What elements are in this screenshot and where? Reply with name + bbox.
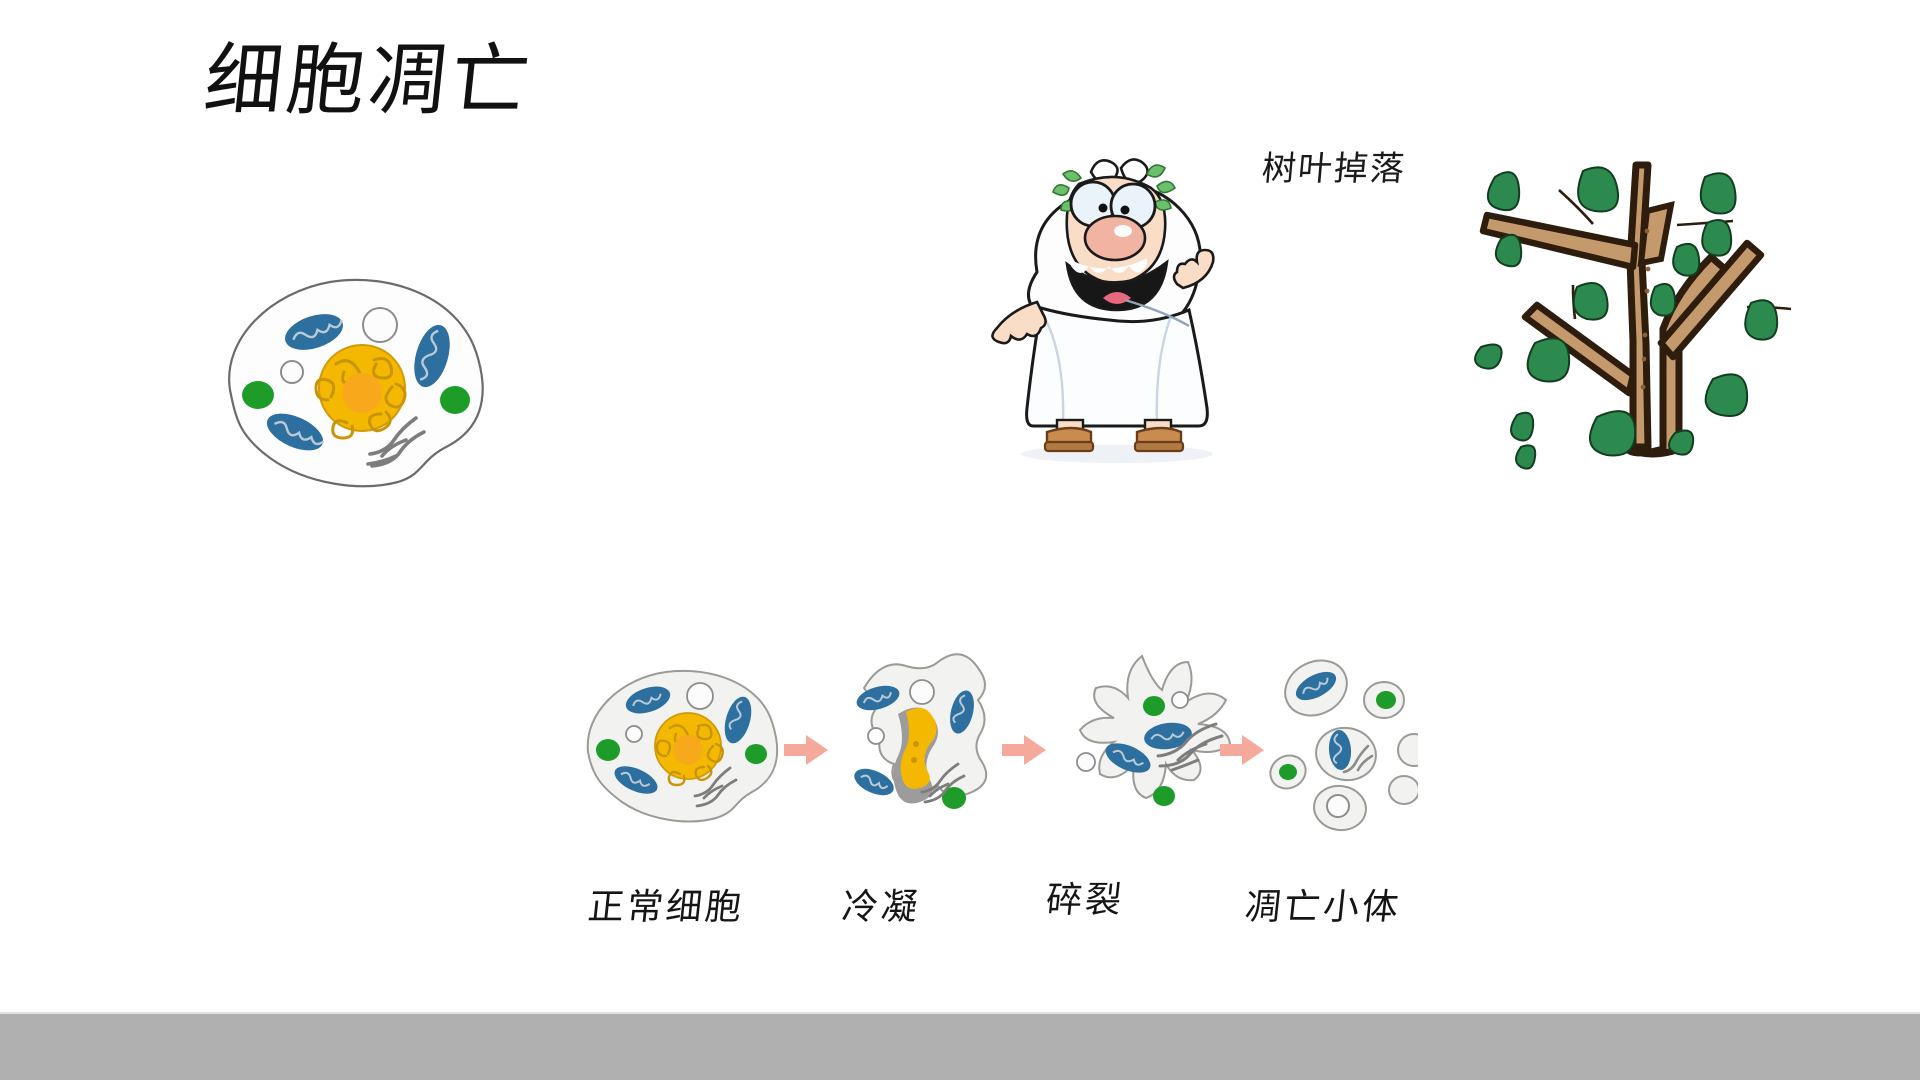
normal-cell-svg	[210, 260, 500, 500]
green-granule-icon	[1153, 786, 1175, 806]
greek-philosopher-cartoon	[975, 132, 1255, 467]
vacuole-icon	[626, 726, 642, 742]
green-granule-icon	[596, 739, 620, 761]
nucleolus-icon	[342, 373, 382, 413]
vacuole-icon	[363, 308, 397, 342]
stage-apoptotic-bodies	[1265, 650, 1418, 833]
apoptotic-body-icon	[1311, 783, 1369, 834]
apoptotic-body-icon	[1276, 650, 1357, 726]
vacuole-icon	[687, 683, 713, 709]
normal-cell-diagram	[210, 260, 500, 500]
vacuole-icon	[910, 680, 934, 704]
vacuole-icon	[1077, 753, 1095, 771]
mitochondrion-icon	[850, 763, 897, 800]
toga-icon	[1027, 308, 1208, 426]
tree-svg	[1455, 135, 1795, 485]
tree-caption-label: 树叶掉落	[1261, 152, 1408, 186]
green-granule-icon	[745, 744, 767, 764]
vacuole-icon	[281, 361, 303, 383]
stage-caption-apoptotic-bodies: 凋亡小体	[1243, 890, 1403, 926]
falling-leaves-tree-illustration	[1455, 135, 1795, 485]
green-granule-icon	[1143, 696, 1165, 716]
vacuole-icon	[868, 728, 884, 744]
stage-condensation	[850, 654, 986, 809]
nose-icon	[1085, 216, 1145, 260]
apoptotic-body-icon	[1398, 734, 1418, 766]
slide-canvas: 细胞凋亡	[0, 0, 1920, 1080]
stage-caption-fragmentation: 碎裂	[1044, 883, 1126, 919]
stage-caption-normal: 正常细胞	[586, 890, 746, 926]
nose-highlight	[1114, 225, 1132, 237]
stage-normal-cell	[588, 671, 777, 822]
stage-caption-condensation: 冷凝	[840, 890, 922, 926]
page-title: 细胞凋亡	[201, 42, 537, 120]
apoptotic-body-icon	[1364, 682, 1404, 718]
philosopher-svg	[975, 132, 1255, 467]
apoptotic-body-icon	[1312, 723, 1380, 785]
apoptosis-sequence-svg	[578, 650, 1418, 860]
apoptotic-body-icon	[1389, 776, 1418, 804]
vacuole-icon	[1172, 692, 1188, 708]
green-granule-icon	[242, 381, 274, 409]
bottom-status-bar	[0, 1012, 1920, 1080]
apoptotic-body-icon	[1265, 750, 1311, 795]
stage-fragmentation	[1077, 656, 1230, 806]
green-granule-icon	[440, 386, 470, 414]
sequence-arrow-icon	[1002, 735, 1046, 765]
sequence-arrow-icon	[784, 735, 828, 765]
apoptosis-stage-sequence	[578, 650, 1418, 860]
nucleolus-icon	[673, 735, 703, 765]
